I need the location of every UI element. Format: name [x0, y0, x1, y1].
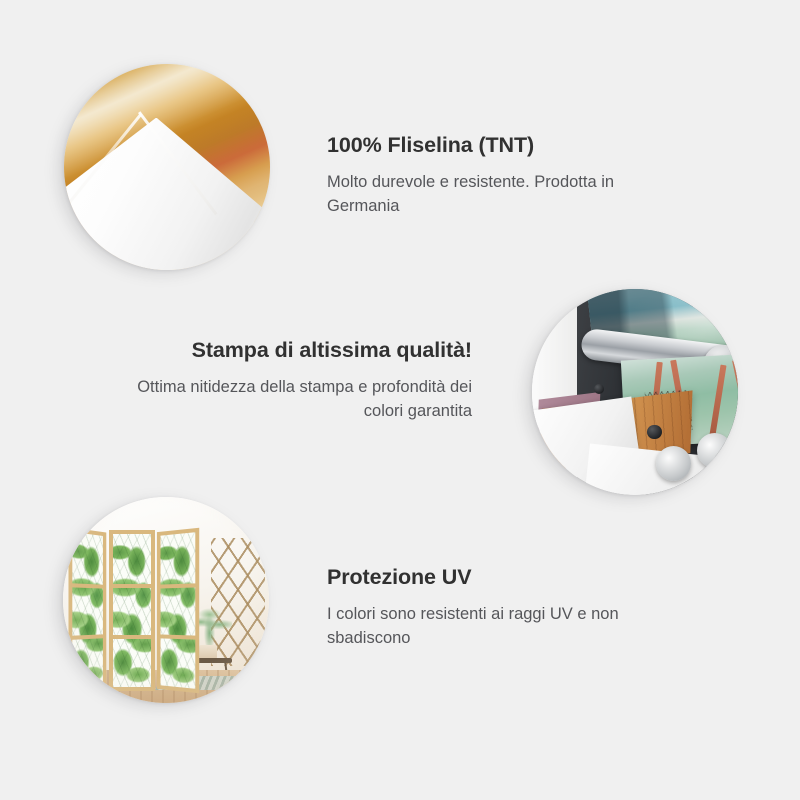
- wallpaper-illustration: [64, 64, 270, 270]
- feature-image-tropical-room-divider: [63, 497, 269, 703]
- feature-image-peeling-wallpaper-roll: [64, 64, 270, 270]
- feature-text-uv: Protezione UV I colori sono resistenti a…: [327, 565, 667, 651]
- room-vignette: [63, 497, 269, 703]
- feature-text-stampa: Stampa di altissima qualità! Ottima niti…: [130, 338, 472, 424]
- feature-heading-fliselina: 100% Fliselina (TNT): [327, 133, 667, 158]
- printer-knob: [647, 425, 661, 439]
- feature-text-fliselina: 100% Fliselina (TNT) Molto durevole e re…: [327, 133, 667, 219]
- feature-heading-uv: Protezione UV: [327, 565, 667, 590]
- feature-body-uv: I colori sono resistenti ai raggi UV e n…: [327, 602, 667, 651]
- feature-panel: 100% Fliselina (TNT) Molto durevole e re…: [0, 0, 800, 800]
- printer-wheel-left: [656, 446, 691, 481]
- print-beam-3: [710, 364, 727, 435]
- printer-knob-small: [594, 384, 604, 394]
- feature-body-fliselina: Molto durevole e resistente. Prodotta in…: [327, 170, 667, 219]
- feature-body-stampa: Ottima nitidezza della stampa e profondi…: [130, 375, 472, 424]
- print-beam-4: [732, 360, 738, 436]
- feature-heading-stampa: Stampa di altissima qualità!: [130, 338, 472, 363]
- feature-image-printing-press-machine: [532, 289, 738, 495]
- printer-illustration: [532, 289, 738, 495]
- printer-wheel-right: [697, 433, 732, 468]
- divider-illustration: [63, 497, 269, 703]
